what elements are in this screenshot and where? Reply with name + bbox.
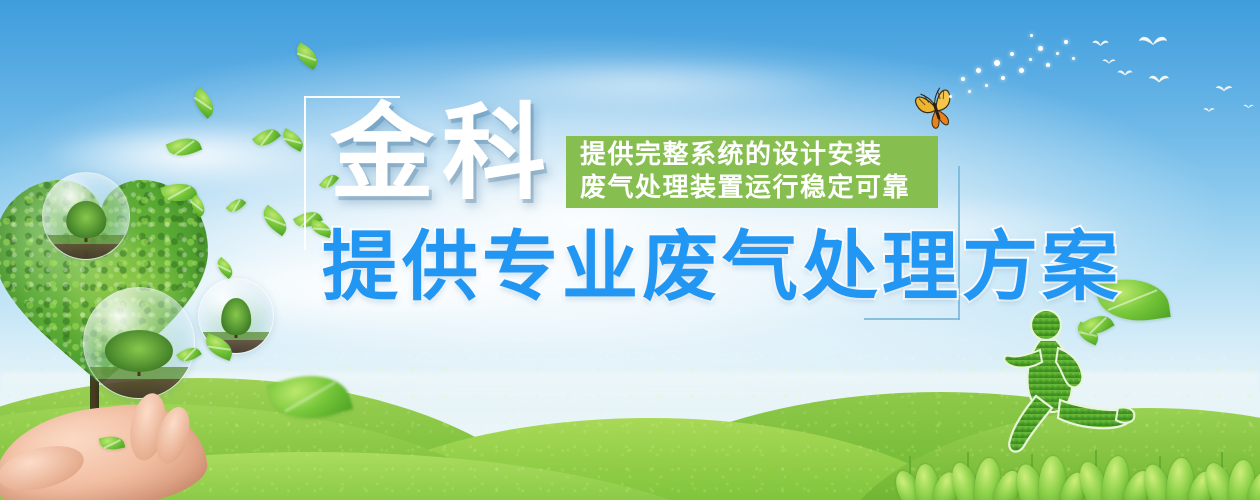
bird-icon	[1117, 68, 1133, 80]
page-title: 提供专业废气处理方案	[322, 226, 1122, 308]
sparkle	[1038, 46, 1043, 51]
thumb	[0, 438, 88, 498]
sparkle	[1064, 40, 1068, 44]
butterfly-icon	[912, 82, 958, 130]
glass-bubble	[83, 287, 195, 399]
bird-icon	[1243, 103, 1254, 111]
sparkle	[1030, 34, 1033, 37]
sparkle	[1072, 57, 1075, 60]
bird-icon	[1215, 83, 1233, 96]
sparkle	[968, 90, 971, 93]
sparkle	[1056, 52, 1059, 55]
sparkle	[1046, 63, 1050, 67]
sparkle	[961, 77, 965, 81]
bird-icon	[1092, 38, 1109, 51]
sparkle	[1029, 58, 1032, 61]
sparkle	[1010, 52, 1014, 56]
bush-row	[895, 426, 1260, 500]
brand-logo-text: 金科	[330, 96, 554, 210]
bird-icon	[1203, 106, 1215, 115]
bird-icon	[1102, 57, 1116, 68]
callout-line-2: 废气处理装置运行稳定可靠	[580, 172, 938, 205]
sparkle	[994, 60, 1000, 66]
sparkle	[1001, 76, 1005, 80]
callout-line-1: 提供完整系统的设计安装	[580, 139, 938, 172]
sparkle	[985, 84, 988, 87]
sparkle	[949, 95, 952, 98]
bird-icon	[1148, 72, 1170, 88]
glass-bubble	[42, 172, 130, 260]
sparkle	[976, 68, 981, 73]
eco-marketing-banner: 金科 提供完整系统的设计安装 废气处理装置运行稳定可靠 提供专业废气处理方案	[0, 0, 1260, 500]
sparkle	[1019, 68, 1024, 73]
bird-icon	[1138, 32, 1168, 54]
callout-box: 提供完整系统的设计安装 废气处理装置运行稳定可靠	[566, 136, 938, 208]
